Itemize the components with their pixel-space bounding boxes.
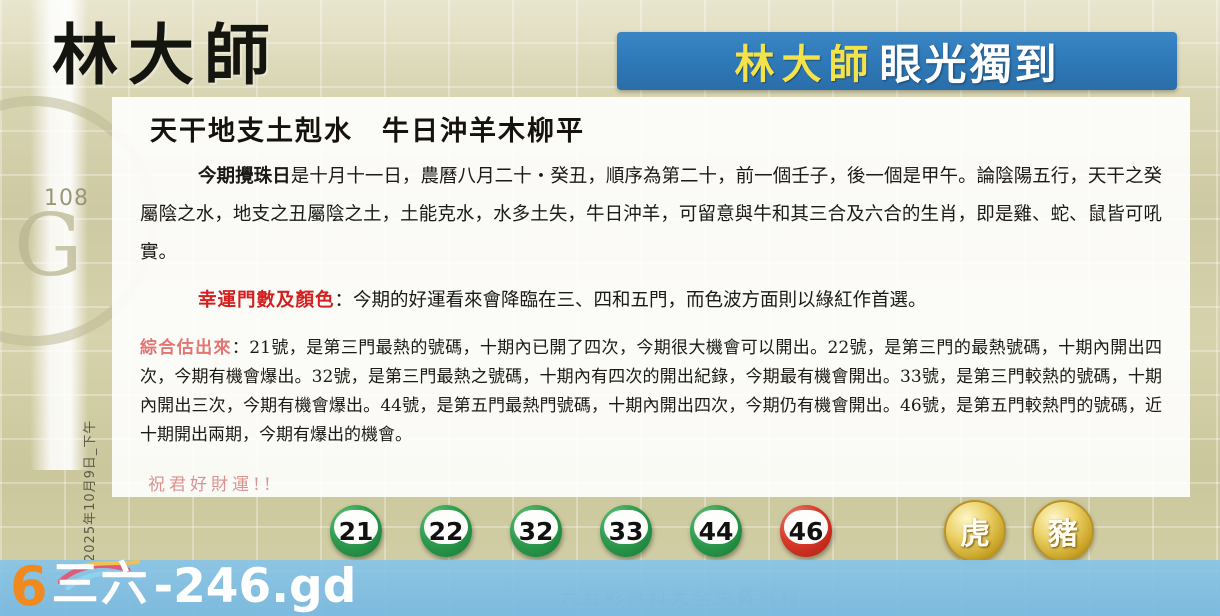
paragraph-1-body: 是十月十一日，農曆八月二十・癸丑，順序為第二十，前一個壬子，後一個是甲午。論陰陽… — [140, 166, 1162, 263]
watermark-digit: 6 — [10, 560, 48, 614]
article-paragraph-1: 今期攪珠日是十月十一日，農曆八月二十・癸丑，順序為第二十，前一個壬子，後一個是甲… — [140, 158, 1162, 272]
predicted-numbers-row: 21 22 32 33 44 46 — [330, 505, 832, 557]
zodiac-row: 虎 豬 — [944, 500, 1094, 562]
issue-number-watermark: 108 — [44, 186, 89, 211]
watermark-brand: 三六 — [52, 545, 150, 614]
capture-date-text: 2025年10月9日_下午 — [79, 412, 98, 562]
lottery-ball: 44 — [690, 505, 742, 557]
lottery-ball: 22 — [420, 505, 472, 557]
article-paragraph-2: 幸運門數及顏色：今期的好運看來會降臨在三、四和五門，而色波方面則以綠紅作首選。 — [140, 282, 1162, 320]
watermark-domain: -246.gd — [154, 559, 357, 614]
poster-canvas: G 108 林大師 林大師 眼光獨到 天干地支土剋水 牛日沖羊木柳平 今期攪珠日… — [0, 0, 1220, 616]
closing-signature: 祝君好財運!! — [148, 470, 275, 495]
paragraph-3-body: ：21號，是第三門最熱的號碼，十期內已開了四次，今期很大機會可以開出。22號，是… — [140, 338, 1162, 445]
banner-brand-text: 林大師 — [734, 32, 879, 90]
banner-slogan-text: 眼光獨到 — [879, 32, 1059, 90]
vertical-date-wrap: 2025年10月9日_下午 — [96, 408, 114, 568]
lottery-ball: 46 — [780, 505, 832, 557]
masthead-logo: 林大師 — [52, 22, 280, 88]
paragraph-2-body: ：今期的好運看來會降臨在三、四和五門，而色波方面則以綠紅作首選。 — [335, 290, 927, 311]
footer-watermark-bar: 6 三六 -246.gd — [0, 560, 1220, 616]
slogan-banner: 林大師 眼光獨到 — [617, 32, 1177, 90]
zodiac-badge-pig: 豬 — [1032, 500, 1094, 562]
site-watermark: 6 三六 -246.gd — [10, 545, 356, 614]
lottery-ball: 32 — [510, 505, 562, 557]
article-title: 天干地支土剋水 牛日沖羊木柳平 — [150, 109, 1190, 148]
letter-watermark: G — [14, 196, 83, 296]
article-paragraph-3: 綜合估出來：21號，是第三門最熱的號碼，十期內已開了四次，今期很大機會可以開出。… — [140, 334, 1162, 450]
paragraph-1-lead: 今期攪珠日 — [198, 166, 291, 187]
zodiac-badge-tiger: 虎 — [944, 500, 1006, 562]
lucky-numbers-heading: 幸運門數及顏色 — [198, 290, 335, 311]
forecast-heading: 綜合估出來 — [140, 338, 232, 358]
article-panel: 天干地支土剋水 牛日沖羊木柳平 今期攪珠日是十月十一日，農曆八月二十・癸丑，順序… — [112, 97, 1190, 497]
lottery-ball: 33 — [600, 505, 652, 557]
